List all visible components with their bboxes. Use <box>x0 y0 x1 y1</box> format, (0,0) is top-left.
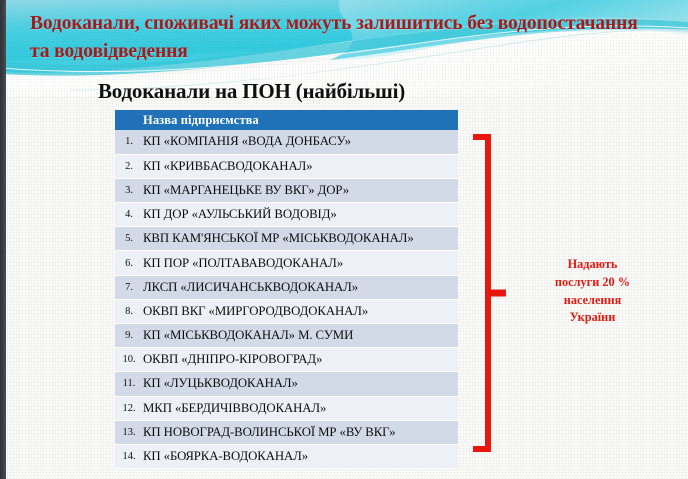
table-row: 10.ОКВП «ДНІПРО-КІРОВОГРАД» <box>115 348 458 372</box>
slide-title: Водоканали, споживачі яких можуть залиши… <box>30 10 660 65</box>
row-number: 8. <box>115 299 143 323</box>
row-number: 7. <box>115 275 143 299</box>
table-row: 13.КП НОВОГРАД-ВОЛИНСЬКОЇ МР «ВУ ВКГ» <box>115 420 458 444</box>
row-number: 5. <box>115 227 143 251</box>
row-enterprise-name: КП ПОР «ПОЛТАВАВОДОКАНАЛ» <box>143 251 458 275</box>
coverage-annotation: Надають послуги 20 % населення України <box>520 256 665 327</box>
row-number: 1. <box>115 130 143 154</box>
row-enterprise-name: МКП «БЕРДИЧІВВОДОКАНАЛ» <box>143 396 458 420</box>
row-number: 4. <box>115 203 143 227</box>
table-row: 1.КП «КОМПАНІЯ «ВОДА ДОНБАСУ» <box>115 130 458 154</box>
row-enterprise-name: ОКВП «ДНІПРО-КІРОВОГРАД» <box>143 348 458 372</box>
annotation-line-1: Надають <box>520 256 665 274</box>
table-row: 2.КП «КРИВБАСВОДОКАНАЛ» <box>115 154 458 178</box>
annotation-line-3: населення <box>520 292 665 310</box>
row-number: 9. <box>115 324 143 348</box>
table-row: 7.ЛКСП «ЛИСИЧАНСЬКВОДОКАНАЛ» <box>115 275 458 299</box>
row-enterprise-name: КП «БОЯРКА-ВОДОКАНАЛ» <box>143 444 458 468</box>
row-number: 14. <box>115 444 143 468</box>
column-header-number <box>115 110 143 130</box>
row-enterprise-name: КП «МІСЬКВОДОКАНАЛ» М. СУМИ <box>143 324 458 348</box>
row-enterprise-name: КП «ЛУЦЬКВОДОКАНАЛ» <box>143 372 458 396</box>
row-enterprise-name: ЛКСП «ЛИСИЧАНСЬКВОДОКАНАЛ» <box>143 275 458 299</box>
row-number: 12. <box>115 396 143 420</box>
column-header-name: Назва підприємства <box>143 110 458 130</box>
row-number: 2. <box>115 154 143 178</box>
table-row: 14.КП «БОЯРКА-ВОДОКАНАЛ» <box>115 444 458 468</box>
row-number: 3. <box>115 178 143 202</box>
annotation-line-4: України <box>520 309 665 327</box>
row-number: 13. <box>115 420 143 444</box>
red-bracket-icon <box>472 132 518 454</box>
row-enterprise-name: КП «МАРГАНЕЦЬКЕ ВУ ВКГ» ДОР» <box>143 178 458 202</box>
row-enterprise-name: КП «КОМПАНІЯ «ВОДА ДОНБАСУ» <box>143 130 458 154</box>
left-edge-strip <box>0 0 6 479</box>
row-enterprise-name: ОКВП ВКГ «МИРГОРОДВОДОКАНАЛ» <box>143 299 458 323</box>
slide-canvas: Водоканали, споживачі яких можуть залиши… <box>0 0 688 479</box>
utilities-table: Назва підприємства 1.КП «КОМПАНІЯ «ВОДА … <box>115 110 458 469</box>
row-number: 10. <box>115 348 143 372</box>
page-subtitle: Водоканали на ПОН (найбільші) <box>98 79 405 104</box>
table-row: 5.КВП КАМ'ЯНСЬКОЇ МР «МІСЬКВОДОКАНАЛ» <box>115 227 458 251</box>
row-enterprise-name: КП ДОР «АУЛЬСЬКИЙ ВОДОВІД» <box>143 203 458 227</box>
row-enterprise-name: КП «КРИВБАСВОДОКАНАЛ» <box>143 154 458 178</box>
row-number: 6. <box>115 251 143 275</box>
table-row: 11.КП «ЛУЦЬКВОДОКАНАЛ» <box>115 372 458 396</box>
row-enterprise-name: КП НОВОГРАД-ВОЛИНСЬКОЇ МР «ВУ ВКГ» <box>143 420 458 444</box>
table-row: 4.КП ДОР «АУЛЬСЬКИЙ ВОДОВІД» <box>115 203 458 227</box>
row-enterprise-name: КВП КАМ'ЯНСЬКОЇ МР «МІСЬКВОДОКАНАЛ» <box>143 227 458 251</box>
table-row: 9.КП «МІСЬКВОДОКАНАЛ» М. СУМИ <box>115 324 458 348</box>
table-header: Назва підприємства <box>115 110 458 130</box>
table-body: 1.КП «КОМПАНІЯ «ВОДА ДОНБАСУ»2.КП «КРИВБ… <box>115 130 458 469</box>
table-row: 6.КП ПОР «ПОЛТАВАВОДОКАНАЛ» <box>115 251 458 275</box>
table-header-row: Назва підприємства <box>115 110 458 130</box>
table-row: 3.КП «МАРГАНЕЦЬКЕ ВУ ВКГ» ДОР» <box>115 178 458 202</box>
annotation-line-2: послуги 20 % <box>520 274 665 292</box>
table-row: 12.МКП «БЕРДИЧІВВОДОКАНАЛ» <box>115 396 458 420</box>
row-number: 11. <box>115 372 143 396</box>
table-row: 8.ОКВП ВКГ «МИРГОРОДВОДОКАНАЛ» <box>115 299 458 323</box>
